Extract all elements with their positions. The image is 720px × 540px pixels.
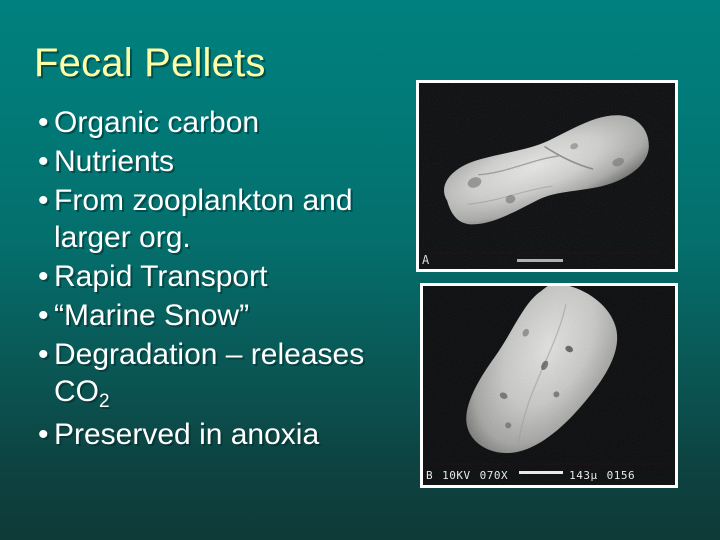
bullet-text-subscript: 2 xyxy=(99,391,110,412)
photo-inner: B 10KV 070X 143µ 0156 xyxy=(423,286,675,485)
bullet-text: Organic carbon xyxy=(54,104,410,141)
sem-micrograph-oval-pellet: B 10KV 070X 143µ 0156 xyxy=(420,283,678,488)
databar-voltage: 10KV xyxy=(442,469,471,482)
sem-databar: B 10KV 070X 143µ 0156 xyxy=(423,467,675,483)
bullet-text: Degradation – releases CO2 xyxy=(54,336,410,414)
presentation-slide: Fecal Pellets • Organic carbon • Nutrien… xyxy=(0,0,720,540)
sem-micrograph-elongated-pellet: A xyxy=(416,80,678,272)
bullet-marker-icon: • xyxy=(30,416,54,453)
databar-frame-id: 0156 xyxy=(607,469,636,482)
databar-corner-label: B xyxy=(426,469,433,482)
bullet-marker-icon: • xyxy=(30,104,54,141)
bullet-text: “Marine Snow” xyxy=(54,297,410,334)
scale-bar-icon xyxy=(519,471,563,474)
bullet-marker-icon: • xyxy=(30,336,54,373)
photo-inner: A xyxy=(419,83,675,269)
list-item: • Rapid Transport xyxy=(30,258,410,295)
image-corner-label: A xyxy=(422,253,429,267)
slide-title: Fecal Pellets xyxy=(34,40,266,86)
list-item: • Degradation – releases CO2 xyxy=(30,336,410,414)
list-item: • Organic carbon xyxy=(30,104,410,141)
databar-magnification: 070X xyxy=(480,469,509,482)
list-item: • “Marine Snow” xyxy=(30,297,410,334)
bullet-text: Rapid Transport xyxy=(54,258,410,295)
bullet-list: • Organic carbon • Nutrients • From zoop… xyxy=(30,104,410,455)
bullet-marker-icon: • xyxy=(30,258,54,295)
bullet-text: Preserved in anoxia xyxy=(54,416,410,453)
bullet-marker-icon: • xyxy=(30,297,54,334)
list-item: • Nutrients xyxy=(30,143,410,180)
sem-image-graphic xyxy=(419,83,675,269)
bullet-marker-icon: • xyxy=(30,182,54,219)
sem-image-graphic xyxy=(423,286,675,485)
bullet-text: Nutrients xyxy=(54,143,410,180)
bullet-marker-icon: • xyxy=(30,143,54,180)
list-item: • Preserved in anoxia xyxy=(30,416,410,453)
list-item: • From zooplankton and larger org. xyxy=(30,182,410,256)
databar-scale: 143µ xyxy=(569,469,598,482)
bullet-text: From zooplankton and larger org. xyxy=(54,182,410,256)
